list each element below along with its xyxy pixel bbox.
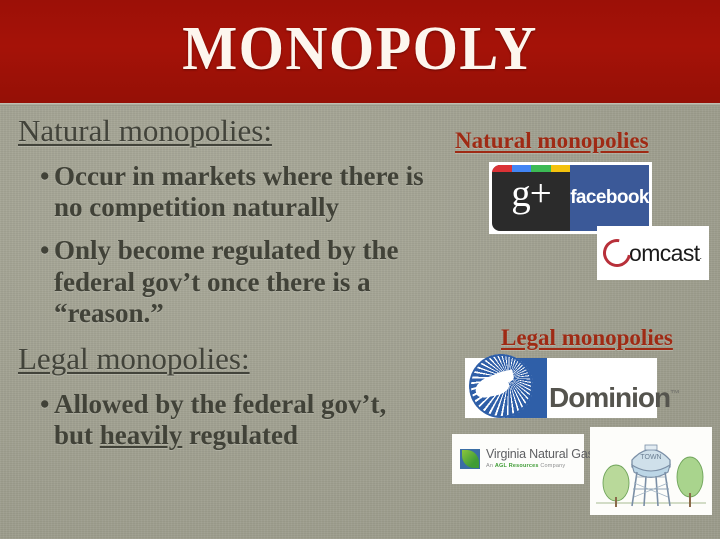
vng-tagline-prefix: An xyxy=(486,463,495,469)
bullet-line: “reason.” xyxy=(54,298,164,328)
facebook-wordmark: facebook xyxy=(570,187,649,209)
bullet-marker: • xyxy=(40,235,49,266)
dominion-logo-image: Dominion™ xyxy=(465,358,657,418)
presentation-slide: MONOPOLY Natural monopolies: • Occur in … xyxy=(0,0,720,539)
comcast-trademark: . xyxy=(700,251,702,261)
heading-natural-monopolies: Natural monopolies: xyxy=(18,113,466,149)
bullet-line: but xyxy=(54,420,100,450)
vng-text-block: Virginia Natural Gas An AGL Resources Co… xyxy=(486,448,594,470)
heading-legal-monopolies: Legal monopolies: xyxy=(18,341,466,377)
label-natural-monopolies: Natural monopolies xyxy=(455,128,649,154)
bullet-emphasis: heavily xyxy=(100,420,183,450)
dominion-wordmark-text: Dominion xyxy=(549,382,670,413)
bullet-item: • Only become regulated by the federal g… xyxy=(18,235,466,329)
page-title: MONOPOLY xyxy=(22,14,699,85)
vng-tagline: An AGL Resources Company xyxy=(486,464,594,470)
svg-text:TOWN: TOWN xyxy=(640,454,661,461)
google-plus-facebook-logo-image: g+ facebook xyxy=(489,162,652,234)
bullet-marker: • xyxy=(40,389,49,420)
bullet-item: • Allowed by the federal gov’t, but heav… xyxy=(18,389,466,452)
bullet-line: regulated xyxy=(182,420,298,450)
bullet-item: • Occur in markets where there is no com… xyxy=(18,161,466,224)
bullet-line: no competition naturally xyxy=(54,192,339,222)
comcast-wordmark: omcast. xyxy=(629,240,701,267)
water-tower-illustration: TOWN xyxy=(590,427,712,515)
vng-wordmark: Virginia Natural Gas xyxy=(486,448,594,461)
vng-leaf-icon xyxy=(460,449,480,469)
comcast-logo-image: omcast. xyxy=(597,226,709,280)
dominion-emblem-icon xyxy=(469,354,533,418)
bullet-line: Occur in markets where there is xyxy=(54,161,424,191)
vng-tagline-suffix: Company xyxy=(539,463,566,469)
dominion-wordmark: Dominion™ xyxy=(549,382,679,414)
banner-divider xyxy=(0,103,720,106)
comcast-wordmark-text: omcast xyxy=(629,240,700,266)
facebook-icon: facebook xyxy=(570,165,649,231)
bullet-line: federal gov’t once there is a xyxy=(54,267,371,297)
google-plus-glyph: g+ xyxy=(492,174,570,213)
dominion-trademark: ™ xyxy=(670,389,679,400)
bullet-line: Allowed by the federal gov’t, xyxy=(54,389,386,419)
water-tower-drawing-icon: TOWN xyxy=(590,427,712,515)
google-color-bar xyxy=(492,165,570,172)
google-plus-icon: g+ xyxy=(492,165,570,231)
bullet-line: Only become regulated by the xyxy=(54,235,398,265)
label-legal-monopolies: Legal monopolies xyxy=(501,325,673,351)
vng-tagline-brand: AGL Resources xyxy=(495,463,539,469)
bullet-marker: • xyxy=(40,161,49,192)
content-text-column: Natural monopolies: • Occur in markets w… xyxy=(18,113,466,463)
virginia-natural-gas-logo-image: Virginia Natural Gas An AGL Resources Co… xyxy=(452,434,584,484)
